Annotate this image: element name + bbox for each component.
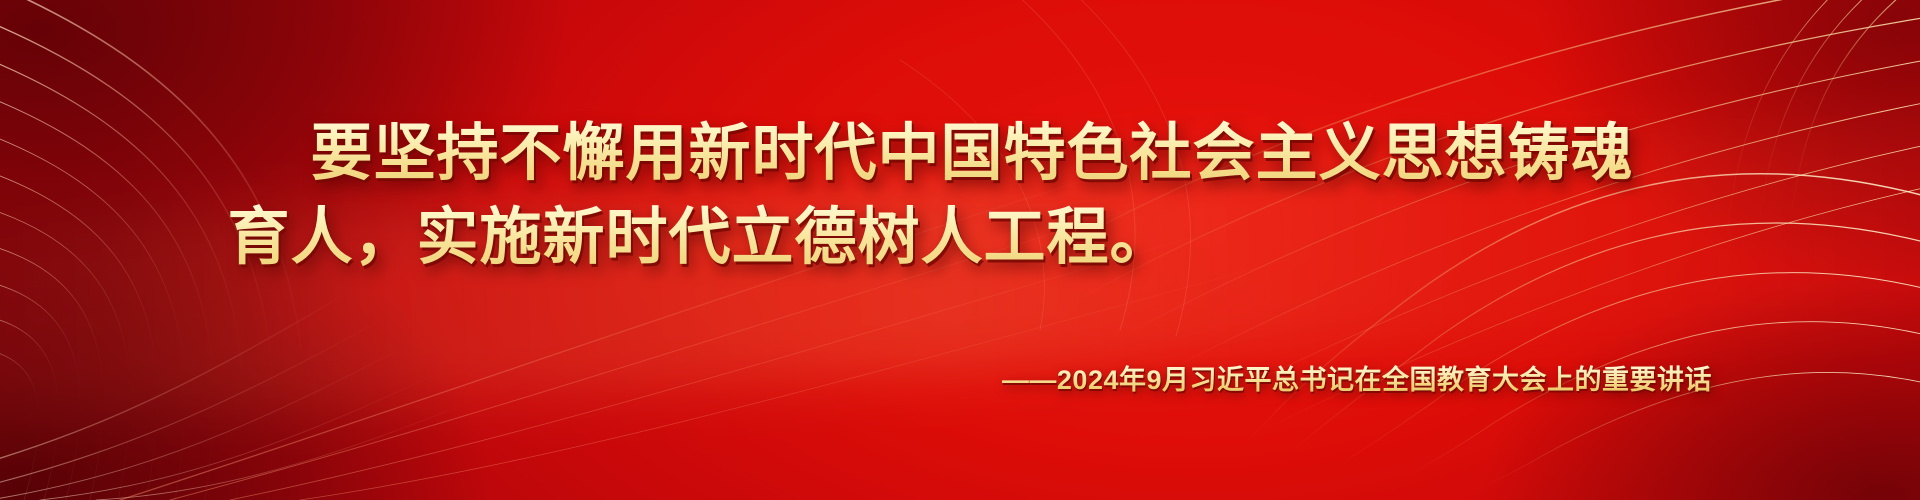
headline-line-1: 要坚持不懈用新时代中国特色社会主义思想铸魂 (0, 112, 1920, 196)
headline-line-2: 育人，实施新时代立德树人工程。 (0, 196, 1920, 280)
banner-content: 要坚持不懈用新时代中国特色社会主义思想铸魂 育人，实施新时代立德树人工程。 ——… (0, 0, 1920, 500)
attribution-line: ——2024年9月习近平总书记在全国教育大会上的重要讲话 (0, 358, 1920, 397)
attribution-text: ——2024年9月习近平总书记在全国教育大会上的重要讲话 (1002, 365, 1712, 395)
headline-text: 要坚持不懈用新时代中国特色社会主义思想铸魂 育人，实施新时代立德树人工程。 (0, 112, 1920, 281)
propaganda-banner: 要坚持不懈用新时代中国特色社会主义思想铸魂 育人，实施新时代立德树人工程。 ——… (0, 0, 1920, 500)
